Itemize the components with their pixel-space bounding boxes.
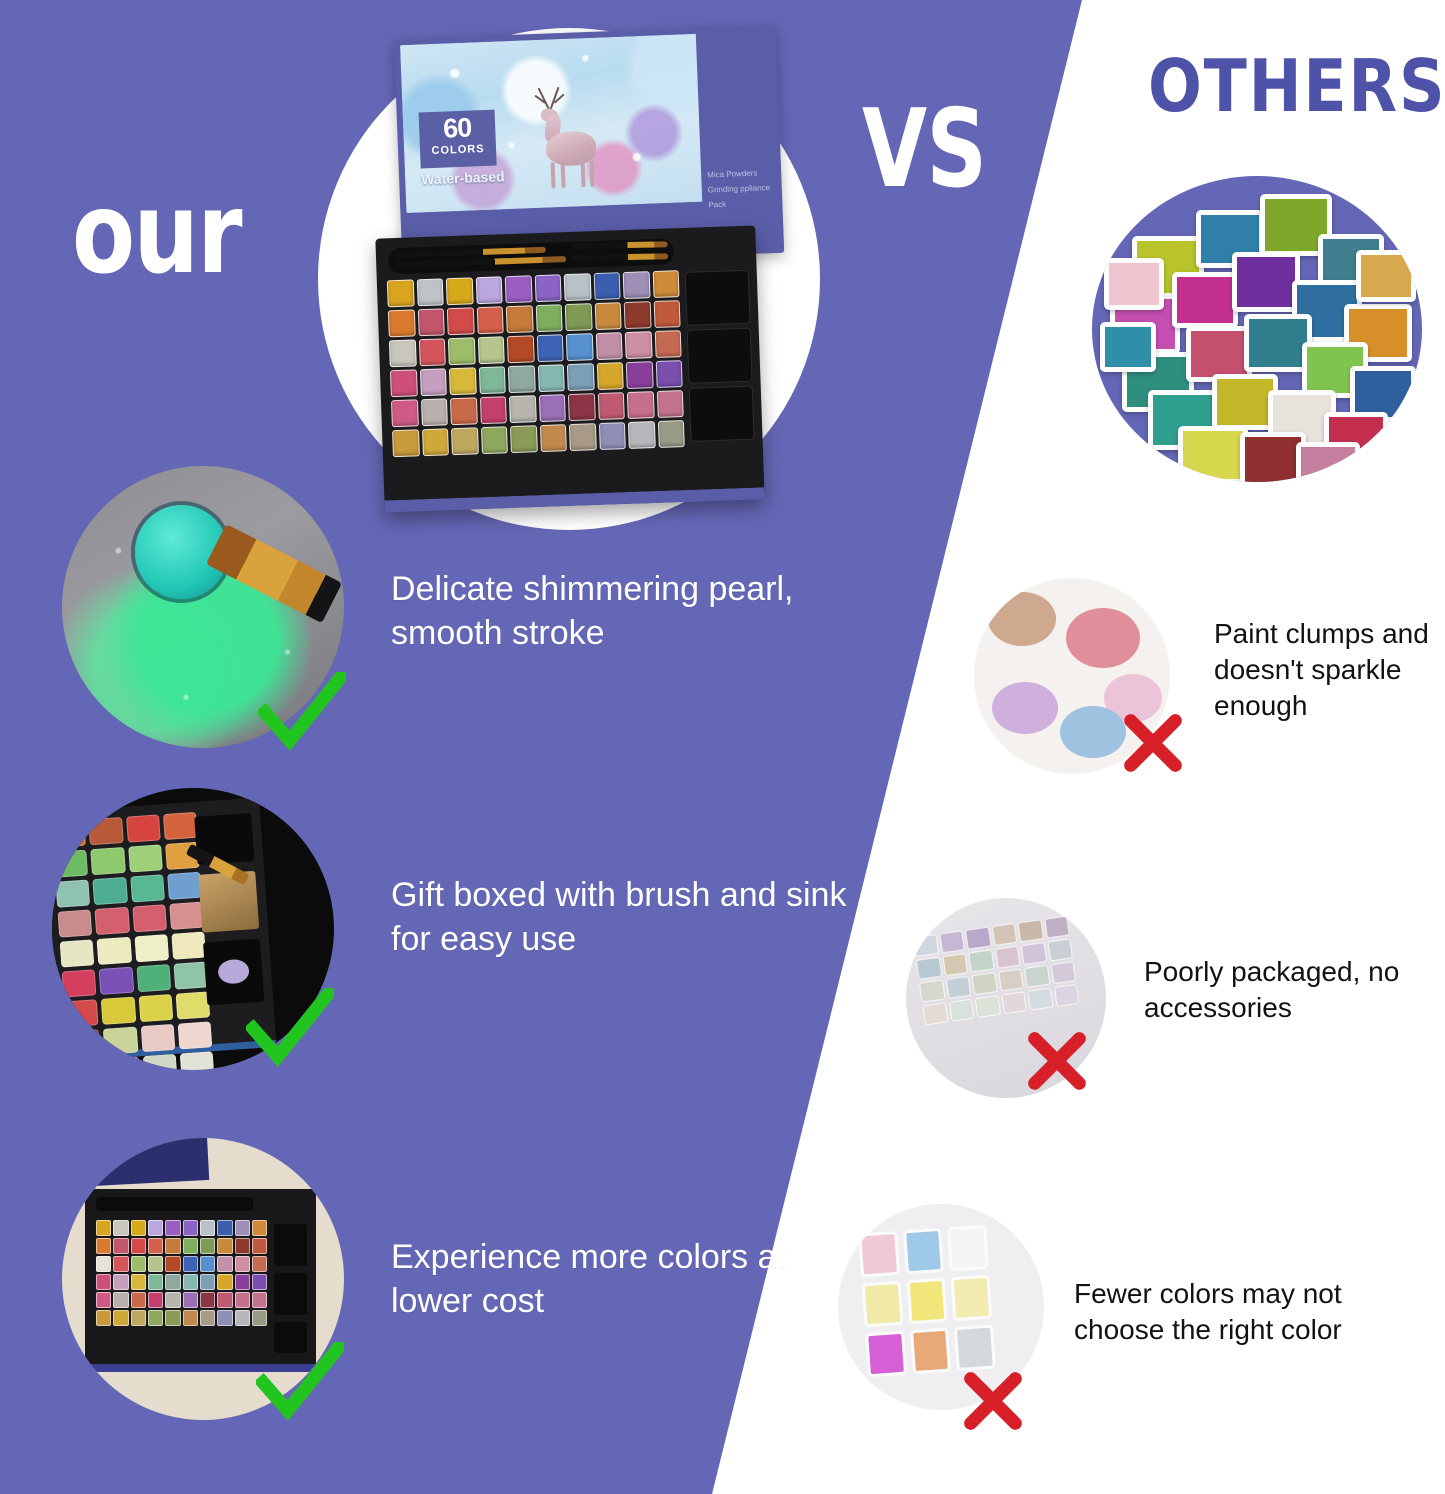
paint-pan	[217, 1238, 232, 1254]
paint-pan	[113, 1238, 128, 1254]
paint-pan	[1050, 961, 1076, 984]
paint-pan	[448, 337, 475, 365]
paint-pan	[165, 1238, 180, 1254]
paint-pan	[1024, 965, 1050, 988]
paint-pan	[569, 423, 596, 451]
paint-pan	[175, 991, 210, 1019]
paint-pan	[94, 906, 129, 934]
paint-pan	[567, 363, 594, 391]
paint-pan	[235, 1292, 250, 1308]
mixing-well	[689, 386, 755, 442]
paint-pan	[165, 1220, 180, 1236]
brush-compartment	[96, 1197, 253, 1211]
paint-pan	[451, 427, 478, 455]
paint-pan	[200, 1274, 215, 1290]
paint-pan	[92, 876, 127, 904]
paint-pan	[595, 332, 622, 360]
paint-pan	[947, 1224, 989, 1271]
paint-pan	[1018, 919, 1044, 942]
paint-pan	[63, 999, 98, 1027]
paint-pan	[861, 1281, 903, 1328]
paint-pan	[173, 961, 208, 989]
open-gift-box	[52, 797, 276, 1062]
paint-pan	[200, 1238, 215, 1254]
paint-pan	[968, 949, 994, 972]
paint-pan	[626, 361, 653, 389]
paint-pan	[134, 934, 169, 962]
paint-pan	[950, 1274, 992, 1321]
paint-pan	[388, 309, 415, 337]
paint-pan	[1104, 258, 1164, 310]
paint-pan	[627, 391, 654, 419]
paint-pan	[909, 1327, 951, 1374]
paint-pan	[506, 305, 533, 333]
paint-pan	[140, 1023, 175, 1051]
paint-pan	[125, 814, 160, 842]
paint-pan	[132, 904, 167, 932]
water-sink-well	[198, 870, 259, 932]
paint-pan	[163, 811, 198, 839]
check-icon	[258, 672, 346, 760]
paint-pan	[113, 1274, 128, 1290]
paint-pan	[948, 999, 974, 1022]
paint-pan	[179, 1051, 214, 1070]
paint-pan	[217, 1256, 232, 1272]
paint-pan	[418, 338, 445, 366]
paint-pan	[507, 335, 534, 363]
lid-side-text: Mica Powders Grinding ppliance Pack	[707, 165, 783, 213]
desk-pan-grid	[96, 1220, 267, 1326]
paint-pan	[509, 395, 536, 423]
paint-pan	[480, 426, 507, 454]
paint-pan	[417, 308, 444, 336]
paint-pan	[623, 271, 650, 299]
paint-pan	[534, 274, 561, 302]
our-heading: our	[72, 178, 241, 290]
paint-pan	[998, 969, 1024, 992]
paint-pan	[390, 369, 417, 397]
paint-pan	[183, 1220, 198, 1236]
paint-pan	[169, 901, 204, 929]
paint-pan	[131, 1274, 146, 1290]
paint-pan	[96, 1292, 111, 1308]
paint-pan	[1027, 988, 1053, 1011]
cross-icon	[1026, 1030, 1088, 1092]
paint-pan	[200, 1310, 215, 1326]
paint-pan	[113, 1256, 128, 1272]
paint-pan	[1296, 442, 1360, 482]
paint-pan	[252, 1274, 267, 1290]
paint-pan	[657, 420, 684, 448]
paint-pan	[653, 300, 680, 328]
paint-pan	[96, 1310, 111, 1326]
paint-pan	[165, 1274, 180, 1290]
paint-pan	[252, 1220, 267, 1236]
paint-pan	[252, 1256, 267, 1272]
paint-pan	[564, 273, 591, 301]
paint-pan	[235, 1238, 250, 1254]
paint-pan	[975, 995, 1001, 1018]
paint-pan	[389, 339, 416, 367]
paint-clump	[1060, 706, 1126, 758]
paint-pan	[148, 1274, 163, 1290]
paint-pan	[598, 422, 625, 450]
paint-pan	[539, 424, 566, 452]
paint-pan	[625, 331, 652, 359]
right-feature-text-1: Paint clumps and doesn't sparkle enough	[1214, 616, 1434, 723]
paint-pan	[505, 275, 532, 303]
paint-pan	[235, 1274, 250, 1290]
paint-pan	[96, 1274, 111, 1290]
paint-pan	[942, 953, 968, 976]
paint-pan	[88, 817, 123, 845]
others-scattered-pans-photo	[1092, 176, 1422, 482]
paint-pan	[101, 996, 136, 1024]
paint-pan	[596, 362, 623, 390]
paint-pan	[476, 306, 503, 334]
paint-pan	[59, 939, 94, 967]
paint-pan	[535, 304, 562, 332]
paint-pan	[475, 276, 502, 304]
paint-pan	[991, 923, 1017, 946]
paint-pan	[1047, 938, 1073, 961]
paint-pan	[183, 1256, 198, 1272]
paint-pan	[566, 333, 593, 361]
paint-pan	[52, 819, 86, 847]
paint-pan	[1053, 984, 1079, 1007]
paint-pan	[131, 1256, 146, 1272]
paint-pan	[96, 936, 131, 964]
paint-pan	[568, 393, 595, 421]
paint-clump	[992, 682, 1058, 734]
paint-pan	[392, 429, 419, 457]
paint-clump	[1066, 608, 1140, 668]
right-feature-text-3: Fewer colors may not choose the right co…	[1074, 1276, 1404, 1348]
hero-pan-grid	[387, 270, 685, 457]
paint-pan	[217, 1220, 232, 1236]
paint-pan	[391, 399, 418, 427]
lid-side-panel: Mica Powders Grinding ppliance Pack	[696, 25, 785, 256]
badge-count: 60	[419, 114, 496, 144]
paint-pan	[865, 1330, 907, 1377]
paint-pan	[628, 421, 655, 449]
paint-pan	[446, 277, 473, 305]
nine-pan-grid	[858, 1224, 995, 1377]
paint-pan	[422, 428, 449, 456]
paint-pan	[148, 1256, 163, 1272]
paint-pan	[217, 1292, 232, 1308]
paint-pan	[1044, 916, 1070, 939]
paint-pan	[479, 396, 506, 424]
paint-pan	[113, 1220, 128, 1236]
paint-pan	[594, 302, 621, 330]
paint-pan	[1100, 322, 1156, 372]
paint-pan	[954, 1324, 996, 1371]
paint-pan	[538, 394, 565, 422]
paint-pan	[148, 1310, 163, 1326]
paint-pan	[477, 336, 504, 364]
paint-pan	[130, 874, 165, 902]
paint-pan	[235, 1310, 250, 1326]
hero-product-image: 60 COLORS Water-based Mica Powders Grind…	[318, 10, 838, 540]
paint-pan	[478, 366, 505, 394]
paint-clump	[988, 592, 1056, 646]
paint-pan	[252, 1292, 267, 1308]
paint-pan	[148, 1292, 163, 1308]
paint-pan	[171, 931, 206, 959]
paint-pan	[148, 1220, 163, 1236]
paint-pan	[624, 301, 651, 329]
paint-pan	[597, 392, 624, 420]
paint-pan	[53, 849, 88, 877]
paint-pan	[419, 368, 446, 396]
paint-tray	[375, 225, 764, 512]
paint-pan	[858, 1231, 900, 1278]
paint-pan	[1178, 426, 1248, 482]
color-count-badge: 60 COLORS	[419, 110, 497, 169]
paint-pan	[235, 1220, 250, 1236]
paint-pan	[113, 1310, 128, 1326]
paint-pan	[183, 1310, 198, 1326]
paint-pan	[113, 1292, 128, 1308]
mixing-well	[685, 270, 751, 326]
cross-icon	[1122, 712, 1184, 774]
paint-pan	[200, 1292, 215, 1308]
paint-pan	[1172, 272, 1238, 328]
paint-pan	[90, 847, 125, 875]
water-based-label: Water-based	[421, 168, 505, 187]
paint-pan	[57, 909, 92, 937]
paint-pan	[565, 303, 592, 331]
paint-pan	[1021, 942, 1047, 965]
paint-pan	[99, 966, 134, 994]
paint-pan	[416, 278, 443, 306]
paint-pan	[387, 279, 414, 307]
paint-pan	[919, 980, 945, 1003]
paint-pan	[1001, 991, 1027, 1014]
paint-pan	[510, 425, 537, 453]
check-icon	[256, 1342, 344, 1430]
paint-pan	[536, 334, 563, 362]
others-heading: OTHERS	[1148, 50, 1445, 122]
paint-pan	[902, 1228, 944, 1275]
mixing-well	[274, 1273, 306, 1315]
paint-pan	[537, 364, 564, 392]
paint-pan	[96, 1220, 111, 1236]
paint-pan	[131, 1310, 146, 1326]
paint-pan	[420, 398, 447, 426]
cross-icon	[962, 1370, 1024, 1432]
paint-pan	[148, 1238, 163, 1254]
paint-pan	[131, 1220, 146, 1236]
paint-pan	[136, 964, 171, 992]
paint-pan	[138, 994, 173, 1022]
left-feature-text-3: Experience more colors at lower cost	[391, 1236, 791, 1323]
paint-pan	[971, 972, 997, 995]
deer-illustration	[536, 94, 614, 193]
paint-pan	[945, 976, 971, 999]
paint-pan	[177, 1021, 212, 1049]
paint-pan	[235, 1256, 250, 1272]
paint-pan	[447, 307, 474, 335]
paint-pan	[131, 1292, 146, 1308]
paint-pan	[252, 1310, 267, 1326]
paint-pan	[167, 871, 202, 899]
paint-pan	[127, 844, 162, 872]
paint-pan	[449, 367, 476, 395]
paint-pan	[200, 1256, 215, 1272]
paint-pan	[252, 1238, 267, 1254]
mixing-well	[274, 1224, 306, 1266]
badge-unit: COLORS	[420, 143, 496, 158]
paint-pan	[939, 930, 965, 953]
paint-pan	[96, 1238, 111, 1254]
left-feature-text-2: Gift boxed with brush and sink for easy …	[391, 874, 871, 961]
paint-pan	[105, 1056, 140, 1070]
right-feature-text-2: Poorly packaged, no accessories	[1144, 954, 1404, 1026]
paint-pan	[450, 397, 477, 425]
paint-pan	[183, 1238, 198, 1254]
paint-pan	[183, 1274, 198, 1290]
paint-pan	[652, 270, 679, 298]
paint-pan	[1356, 250, 1416, 302]
paint-pan	[142, 1053, 177, 1070]
paint-pan	[96, 1256, 111, 1272]
paint-pan	[103, 1026, 138, 1054]
vs-heading: VS	[862, 96, 986, 204]
paint-pan	[965, 927, 991, 950]
paint-pan	[654, 330, 681, 358]
paint-pan	[68, 1059, 103, 1070]
paint-pan	[66, 1029, 101, 1057]
paint-pan	[217, 1274, 232, 1290]
paint-pan	[131, 1238, 146, 1254]
paint-pan	[655, 360, 682, 388]
paint-pan	[165, 1256, 180, 1272]
check-icon	[246, 988, 334, 1076]
paint-pan	[508, 365, 535, 393]
mixing-well	[687, 328, 753, 384]
paint-pan	[913, 934, 939, 957]
box-lid-flap	[89, 1138, 210, 1186]
cheap-palette-grid	[913, 916, 1080, 1026]
paint-pan	[922, 1002, 948, 1025]
paint-pan	[994, 946, 1020, 969]
paint-pan	[1232, 252, 1300, 312]
paint-pan	[183, 1292, 198, 1308]
paint-pan	[165, 1292, 180, 1308]
paint-pan	[200, 1220, 215, 1236]
paint-pan	[656, 390, 683, 418]
comparison-infographic: our VS OTHERS 60 COLORS Water-based	[0, 0, 1445, 1494]
paint-pan	[165, 1310, 180, 1326]
paint-pan	[593, 272, 620, 300]
paint-pan	[906, 1277, 948, 1324]
paint-pan	[61, 969, 96, 997]
paint-pan	[217, 1310, 232, 1326]
paint-pan	[55, 879, 90, 907]
paint-pan	[916, 957, 942, 980]
left-feature-text-1: Delicate shimmering pearl, smooth stroke	[391, 568, 891, 655]
